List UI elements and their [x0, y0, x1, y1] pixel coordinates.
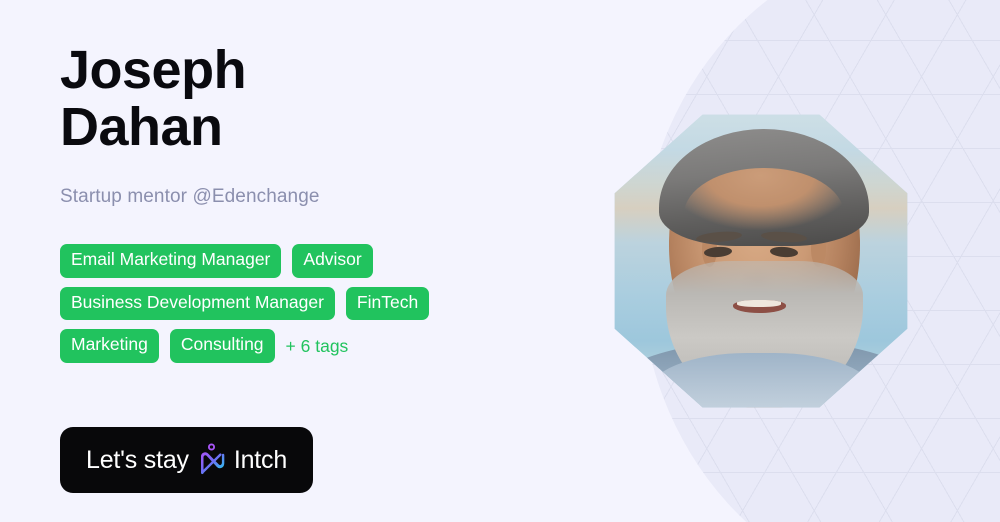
- page-title: Joseph Dahan: [60, 42, 620, 156]
- tag-chip[interactable]: FinTech: [346, 287, 429, 321]
- cta-brand-label: Intch: [234, 448, 287, 473]
- tag-chip[interactable]: Marketing: [60, 329, 159, 363]
- profile-card: Joseph Dahan Startup mentor @Edenchange …: [0, 0, 1000, 522]
- lets-stay-intch-button[interactable]: Let's stay Intch: [60, 427, 313, 493]
- profile-subtitle: Startup mentor @Edenchange: [60, 186, 620, 208]
- tag-list: Email Marketing Manager Advisor Business…: [60, 244, 530, 363]
- tag-chip[interactable]: Business Development Manager: [60, 287, 335, 321]
- more-tags-link[interactable]: + 6 tags: [286, 336, 349, 357]
- intch-n-logo-icon: [198, 443, 225, 477]
- cta-prefix-label: Let's stay: [86, 448, 189, 473]
- tag-chip[interactable]: Consulting: [170, 329, 275, 363]
- profile-content: Joseph Dahan Startup mentor @Edenchange …: [60, 0, 620, 522]
- tag-chip[interactable]: Advisor: [292, 244, 372, 278]
- tag-chip[interactable]: Email Marketing Manager: [60, 244, 281, 278]
- photo-mouth: [733, 300, 785, 314]
